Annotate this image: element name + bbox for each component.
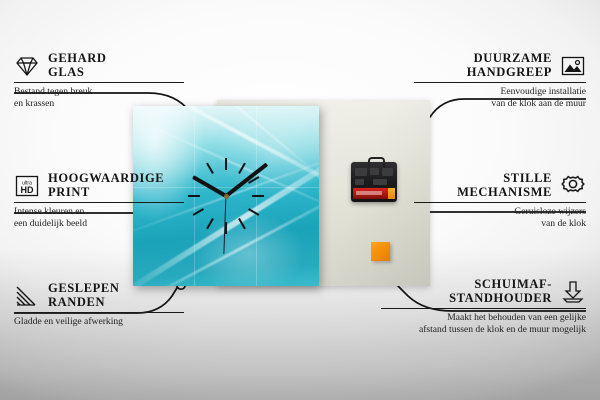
svg-text:HD: HD [21,185,34,195]
picture-frame-icon [560,54,586,78]
beveled-edge-icon [14,284,40,308]
feature-schuimafstandhouder: SCHUIMAF-STANDHOUDER Maakt het behouden … [381,278,586,335]
diamond-icon [14,54,40,78]
feature-gehard-glas: GEHARDGLAS Bestand tegen breuken krassen [14,52,184,109]
feature-hoogwaardige-print: ultra HD HOOGWAARDIGEPRINT Intense kleur… [14,172,184,229]
feature-description: Geruisloze wijzersvan de klok [414,206,586,229]
spacer-arrow-icon [560,280,586,304]
feature-description: Intense kleuren eneen duidelijk beeld [14,206,184,229]
title-rule [414,82,586,83]
feature-title: STILLEMECHANISME [457,172,552,199]
feature-description: Maakt het behouden van een gelijkeafstan… [381,312,586,335]
quartz-movement [351,162,397,202]
feature-description: Gladde en veilige afwerking [14,316,184,328]
feature-title: DUURZAMEHANDGREEP [467,52,552,79]
feature-geslepen-randen: GESLEPENRANDEN Gladde en veilige afwerki… [14,282,184,328]
hand-center-cap [224,194,229,199]
title-rule [14,202,184,203]
movement-hanger [368,157,385,167]
title-rule [414,202,586,203]
feature-duurzame-handgreep: DUURZAMEHANDGREEP Eenvoudige installatie… [414,52,586,109]
title-rule [14,82,184,83]
title-rule [14,312,184,313]
gear-icon [560,174,586,198]
battery [353,188,395,199]
feature-title: SCHUIMAF-STANDHOUDER [449,278,552,305]
feature-description: Bestand tegen breuken krassen [14,86,184,109]
ultra-hd-icon: ultra HD [14,174,40,198]
feature-stille-mechanisme: STILLEMECHANISME Geruisloze wijzersvan d… [414,172,586,229]
product-infographic: GEHARDGLAS Bestand tegen breuken krassen… [0,0,600,400]
foam-spacer-pad [371,242,390,261]
feature-description: Eenvoudige installatievan de klok aan de… [414,86,586,109]
feature-title: GESLEPENRANDEN [48,282,120,309]
feature-title: HOOGWAARDIGEPRINT [48,172,164,199]
title-rule [381,308,586,309]
feature-title: GEHARDGLAS [48,52,106,79]
